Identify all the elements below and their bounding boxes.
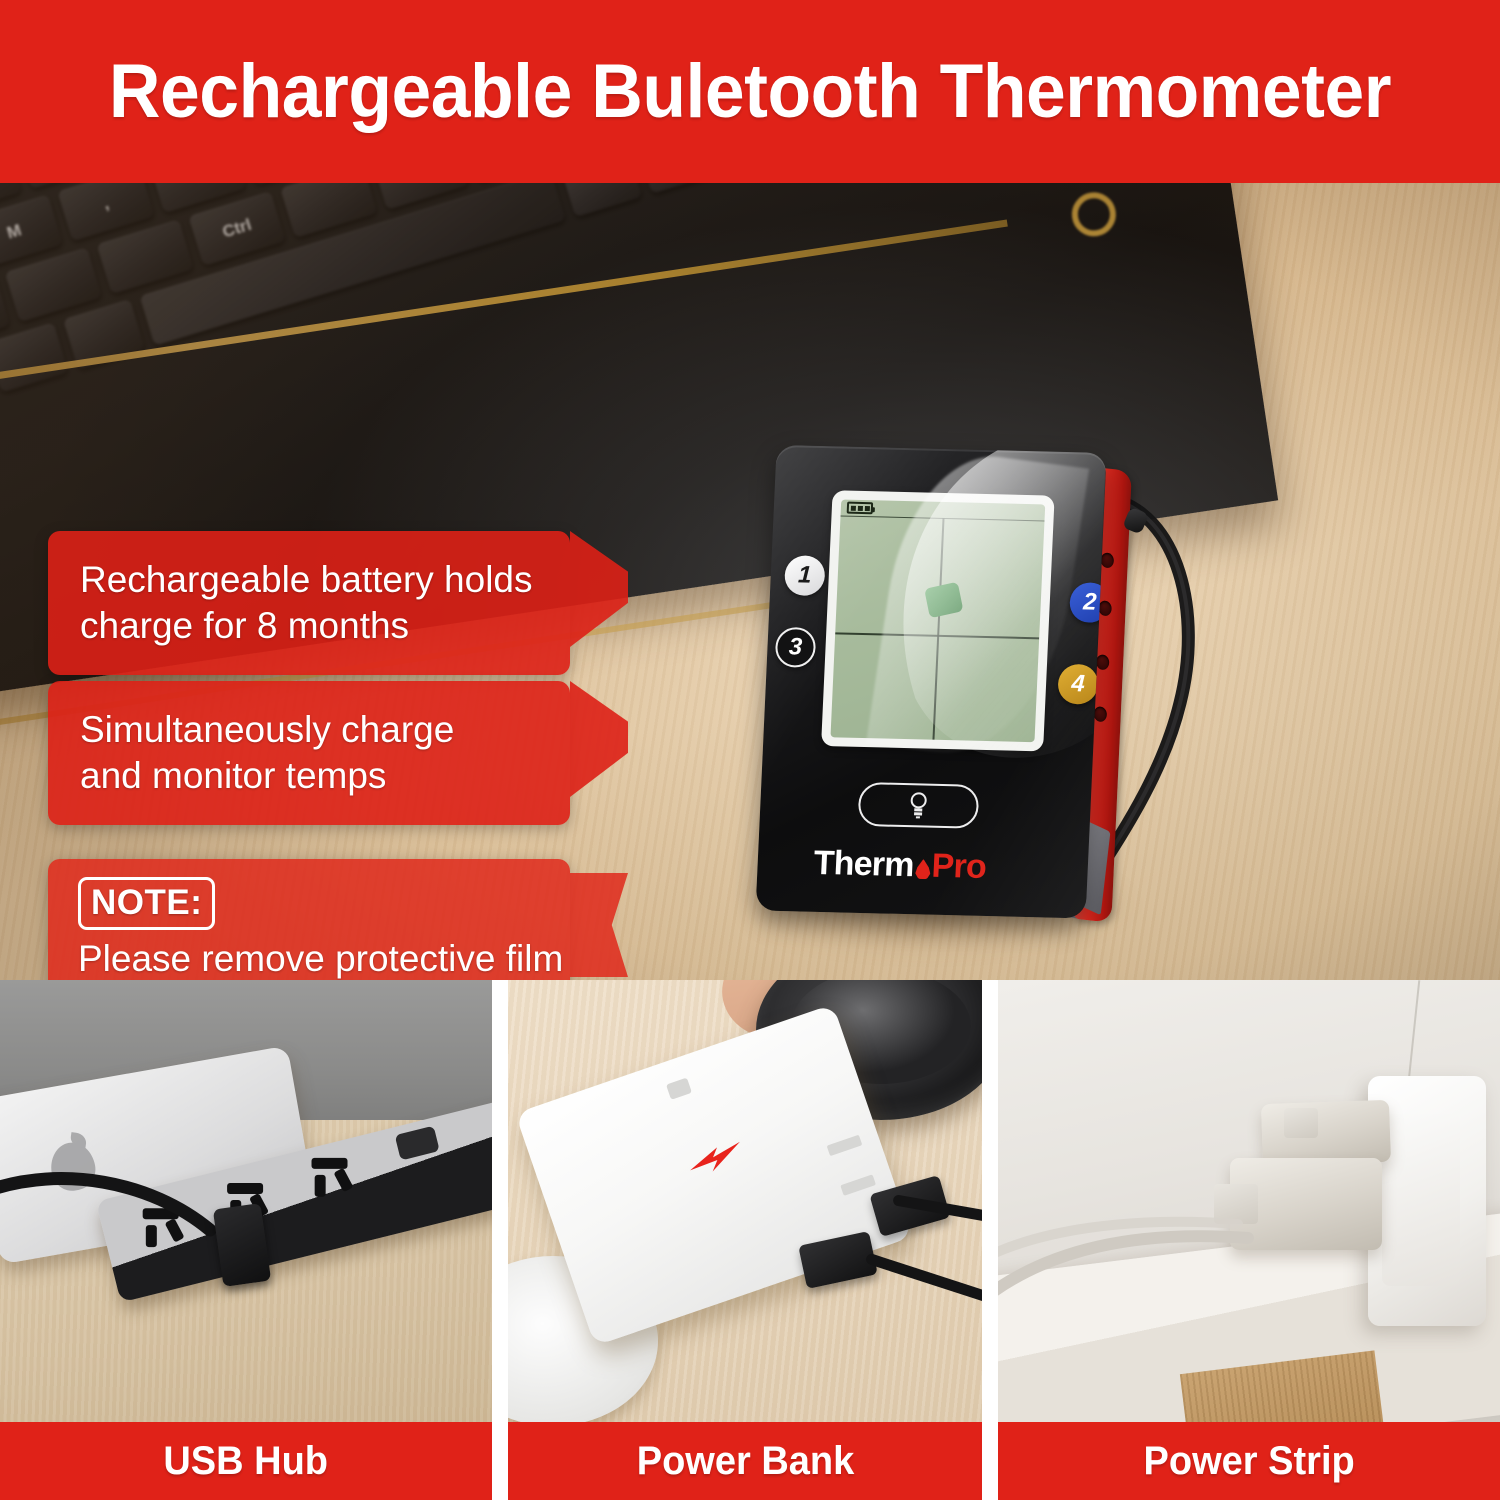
panel-caption-label: Power Strip [1143, 1439, 1354, 1484]
panel-usb-hub-photo [0, 980, 492, 1422]
adapter-usb-port-back [1284, 1108, 1318, 1138]
panel-usb-hub: USB Hub [0, 980, 492, 1500]
note-badge: NOTE: [78, 877, 215, 930]
use-case-panels: USB Hub [0, 980, 1500, 1500]
panel-power-bank-photo [508, 980, 982, 1422]
device-body: 1 3 2 4 Therm Pro [755, 445, 1132, 923]
callout-battery-life: Rechargeable battery holds charge for 8 … [48, 531, 570, 675]
brand-mark [666, 1078, 692, 1100]
panel-caption-label: Power Bank [636, 1439, 854, 1484]
probe-badge-1: 1 [784, 555, 826, 596]
hero-photo: P[]\DelHomePgUpF1JKL;'EnterNM,./Shift↑Al… [0, 183, 1500, 980]
battery-full-icon [847, 502, 874, 515]
panel-power-bank: Power Bank [508, 980, 982, 1500]
callout-line: charge for 8 months [80, 603, 540, 649]
brand-logo: Therm Pro [813, 844, 987, 887]
protective-film-sheen [866, 446, 1089, 766]
backlight-button[interactable] [857, 782, 979, 829]
brand-logo-primary: Therm [813, 844, 915, 885]
socket-recess [1382, 1114, 1460, 1286]
probe-badge-3: 3 [775, 627, 817, 668]
callout-charge-and-monitor: Simultaneously charge and monitor temps [48, 681, 570, 825]
panel-caption-power-strip: Power Strip [998, 1422, 1500, 1500]
callout-note: NOTE: Please remove protective film befo… [48, 859, 570, 980]
flame-icon [915, 859, 931, 879]
callout-line: Rechargeable battery holds [80, 557, 540, 603]
device-front-face: 1 3 2 4 Therm Pro [756, 445, 1107, 919]
page-title: Rechargeable Buletooth Thermometer [109, 48, 1391, 135]
product-infographic: Rechargeable Buletooth Thermometer P[]\D… [0, 0, 1500, 1500]
panel-power-strip: Power Strip [998, 980, 1500, 1500]
lcd-screen [830, 499, 1045, 742]
usb-adapter-back [1261, 1100, 1391, 1166]
lightbulb-icon [908, 792, 929, 818]
probe-jack-4 [1093, 706, 1107, 722]
probe-jack-3 [1096, 654, 1110, 670]
probe-jack-1 [1100, 552, 1114, 568]
usb-port-b [840, 1174, 876, 1195]
callout-line: Simultaneously charge [80, 707, 540, 753]
usb-cable [998, 1208, 1318, 1328]
note-line: Please remove protective film [78, 936, 540, 980]
brand-logo-secondary: Pro [931, 847, 987, 887]
panel-power-strip-photo [998, 980, 1500, 1422]
protective-film-peel [852, 445, 1106, 773]
panel-caption-label: USB Hub [164, 1439, 329, 1484]
panel-caption-usb-hub: USB Hub [0, 1422, 492, 1500]
lcd-bezel [821, 490, 1055, 751]
lcd-vertical-divider [932, 518, 944, 740]
lcd-horizontal-divider [835, 633, 1039, 640]
probe-jack-2 [1098, 600, 1112, 616]
thermometer-device: 1 3 2 4 Therm Pro [748, 433, 1168, 953]
lightning-bolt-icon [684, 1135, 747, 1182]
usb-port-a [827, 1135, 863, 1156]
header-banner: Rechargeable Buletooth Thermometer [0, 0, 1500, 183]
lcd-header-line [840, 515, 1044, 521]
lcd-highlight-block [924, 582, 963, 619]
panel-caption-power-bank: Power Bank [508, 1422, 982, 1500]
probe-badge-4: 4 [1057, 664, 1099, 705]
callout-line: and monitor temps [80, 753, 540, 799]
